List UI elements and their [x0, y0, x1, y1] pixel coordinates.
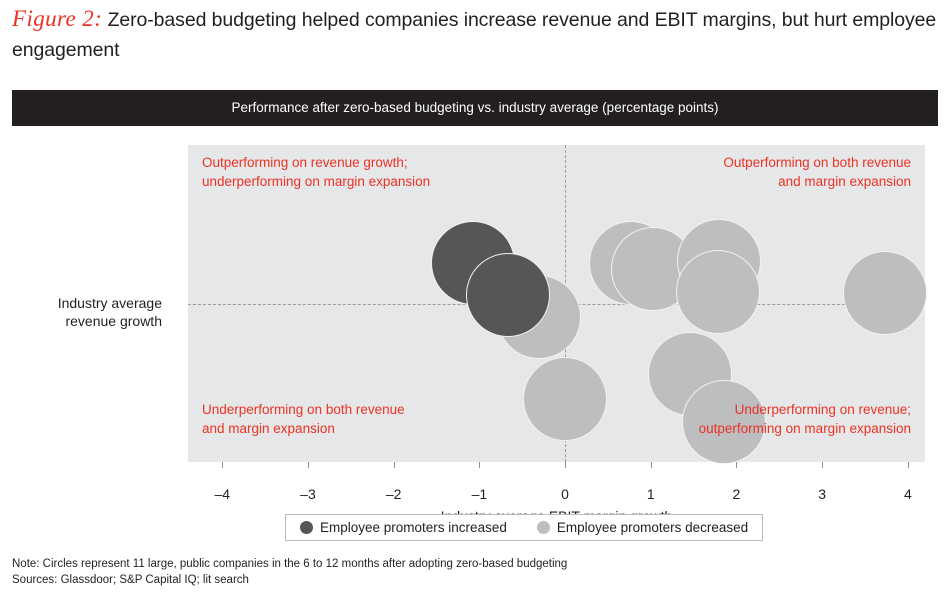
annotation-top-left: Outperforming on revenue growth; underpe…: [202, 153, 430, 191]
data-bubble: [843, 251, 927, 335]
legend-item[interactable]: Employee promoters decreased: [537, 520, 748, 535]
legend-swatch-circle-icon: [537, 521, 550, 534]
x-axis-tick-label: 2: [716, 486, 756, 502]
x-axis-tick-mark: [394, 462, 395, 468]
figure-number: Figure 2:: [12, 6, 102, 31]
plot-area: 151050–5–10–15 –4–3–2–101234 Outperformi…: [188, 145, 925, 462]
x-axis-tick-mark: [822, 462, 823, 468]
data-bubble: [676, 250, 760, 334]
data-bubble: [523, 357, 607, 441]
chart-banner-title: Performance after zero-based budgeting v…: [12, 90, 938, 126]
x-axis-tick-label: 3: [802, 486, 842, 502]
chart-container: Performance after zero-based budgeting v…: [12, 90, 938, 545]
annotation-top-right: Outperforming on both revenue and margin…: [723, 153, 911, 191]
legend-label: Employee promoters decreased: [557, 520, 748, 535]
footnote-sources: Sources: Glassdoor; S&P Capital IQ; lit …: [12, 572, 912, 588]
data-bubble: [466, 253, 550, 337]
legend-item[interactable]: Employee promoters increased: [300, 520, 507, 535]
figure-title-text: Zero-based budgeting helped companies in…: [12, 9, 936, 61]
x-axis-tick-label: –4: [202, 486, 242, 502]
x-axis-tick-label: 1: [631, 486, 671, 502]
footnotes: Note: Circles represent 11 large, public…: [12, 556, 912, 588]
x-axis-tick-mark: [908, 462, 909, 468]
legend-swatch-circle-icon: [300, 521, 313, 534]
annotation-bottom-left: Underperforming on both revenue and marg…: [202, 400, 405, 438]
plot-wrapper: Industry average revenue growth Industry…: [12, 126, 938, 545]
x-axis-tick-label: –3: [288, 486, 328, 502]
x-axis-tick-label: 0: [545, 486, 585, 502]
x-axis-tick-label: –1: [459, 486, 499, 502]
y-axis-title: Industry average revenue growth: [12, 294, 162, 330]
legend-label: Employee promoters increased: [320, 520, 507, 535]
x-axis-tick-mark: [565, 462, 566, 468]
x-axis-tick-mark: [736, 462, 737, 468]
x-axis-tick-mark: [651, 462, 652, 468]
chart-legend: Employee promoters increasedEmployee pro…: [285, 514, 763, 541]
x-axis-tick-label: –2: [374, 486, 414, 502]
x-axis-tick-mark: [222, 462, 223, 468]
x-axis-tick-label: 4: [888, 486, 928, 502]
x-axis-tick-mark: [479, 462, 480, 468]
footnote-note: Note: Circles represent 11 large, public…: [12, 556, 912, 572]
annotation-bottom-right: Underperforming on revenue; outperformin…: [699, 400, 911, 438]
x-axis-tick-mark: [308, 462, 309, 468]
page-title: Figure 2: Zero-based budgeting helped co…: [12, 4, 942, 65]
